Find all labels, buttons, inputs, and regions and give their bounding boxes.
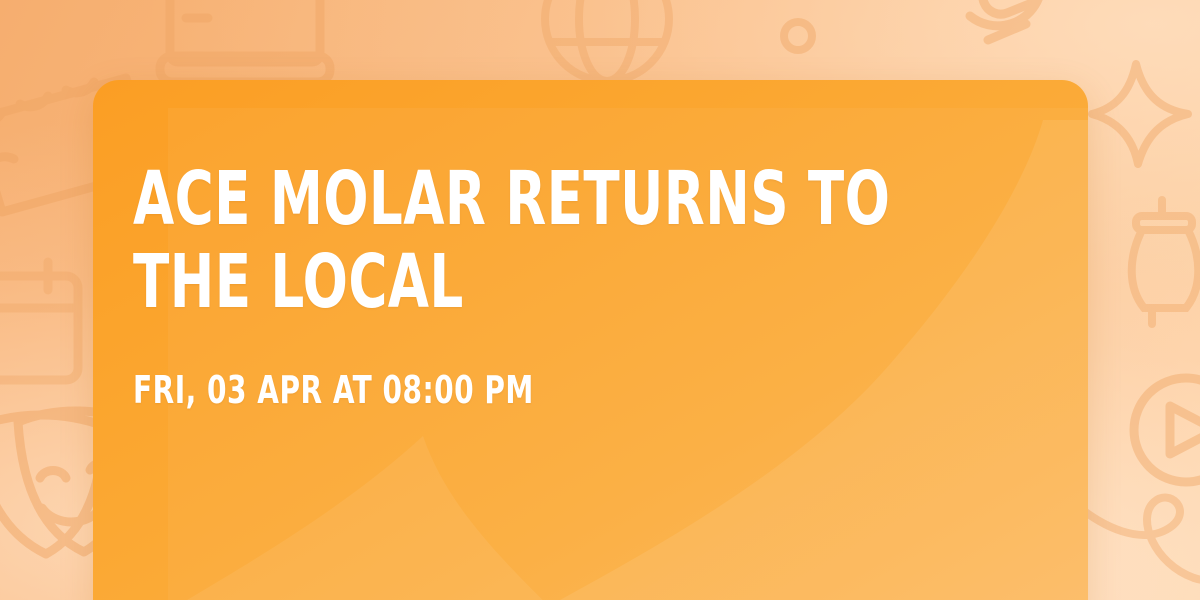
confetti-dot-doodle xyxy=(768,6,828,66)
event-datetime: Fri, 03 Apr at 08:00 PM xyxy=(133,368,625,412)
event-title: Ace Molar Returns to the Local xyxy=(133,158,933,324)
arc-tail-shape xyxy=(153,436,563,600)
event-promo-banner: Ace Molar Returns to the Local Fri, 03 A… xyxy=(0,0,1200,600)
card-content: Ace Molar Returns to the Local Fri, 03 A… xyxy=(133,158,933,412)
sparkle-doodle xyxy=(1088,52,1198,172)
event-card[interactable]: Ace Molar Returns to the Local Fri, 03 A… xyxy=(93,80,1088,600)
lantern-doodle xyxy=(1122,184,1200,334)
